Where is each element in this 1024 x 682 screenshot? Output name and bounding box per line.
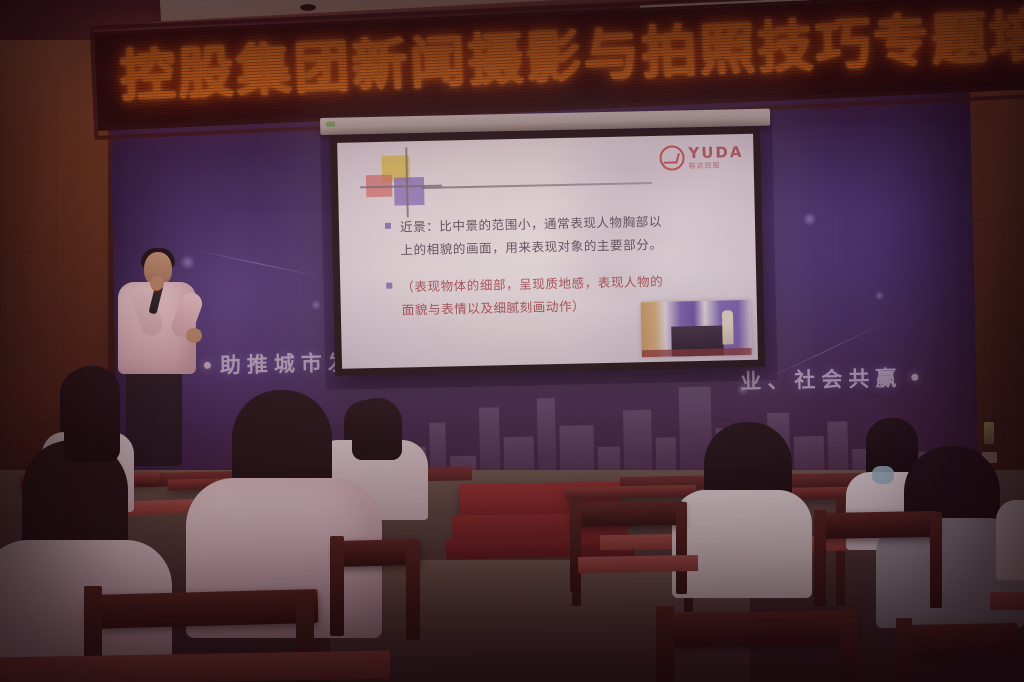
audience-shirt — [672, 490, 812, 598]
slide-bullet-text: （表现物体的细部，呈现质地感，表现人物的 面貌与表情以及细腻刻画动作） — [401, 270, 664, 322]
yuda-logo: YUDA 裕达控股 — [659, 144, 744, 171]
yuda-logo-text: YUDA 裕达控股 — [688, 144, 744, 169]
photograph-scene: 助推城市发 业、社会共赢 控股集团新闻摄影与拍照技巧专题培训 YUDA — [0, 0, 1024, 682]
slide-bullet-line: 面貌与表情以及细腻刻画动作） — [402, 293, 664, 322]
screen-housing-indicator — [326, 122, 335, 127]
yuda-logo-english: YUDA — [688, 144, 743, 160]
slide-bullet-marker-icon — [385, 223, 391, 229]
wall-fixture — [984, 422, 994, 444]
ceiling-downlight — [300, 4, 316, 11]
presenter-right-hand — [186, 328, 202, 343]
desk — [566, 485, 696, 499]
inset-photo-person — [722, 310, 734, 344]
presenter-trousers — [126, 370, 182, 466]
projection-screen: YUDA 裕达控股 近景：比中景的范围小，通常表现人物胸部以 上的相貌的画面，用… — [330, 127, 765, 376]
desk-surface-foreground — [578, 555, 698, 573]
slide-bullet-line: 上的相貌的画面，用来表现对象的主要部分。 — [400, 233, 662, 262]
desk-surface-foreground — [990, 592, 1024, 610]
yuda-logo-chinese: 裕达控股 — [689, 161, 744, 169]
audience-hair — [64, 366, 120, 462]
audience-shirt — [996, 500, 1024, 580]
slide-inset-photo — [641, 300, 752, 357]
face-mask — [872, 466, 894, 484]
slide-bullet-item: 近景：比中景的范围小，通常表现人物胸部以 上的相貌的画面，用来表现对象的主要部分… — [385, 208, 738, 262]
audience-hair — [352, 398, 402, 460]
slide-decor-purple-square — [394, 177, 425, 206]
slide-bullet-marker-icon — [386, 283, 392, 289]
slide-bullet-text: 近景：比中景的范围小，通常表现人物胸部以 上的相貌的画面，用来表现对象的主要部分… — [400, 210, 663, 262]
yuda-logo-mark-icon — [659, 145, 685, 171]
presenter-left-hand — [150, 276, 164, 290]
projected-slide: YUDA 裕达控股 近景：比中景的范围小，通常表现人物胸部以 上的相貌的画面，用… — [337, 134, 758, 369]
